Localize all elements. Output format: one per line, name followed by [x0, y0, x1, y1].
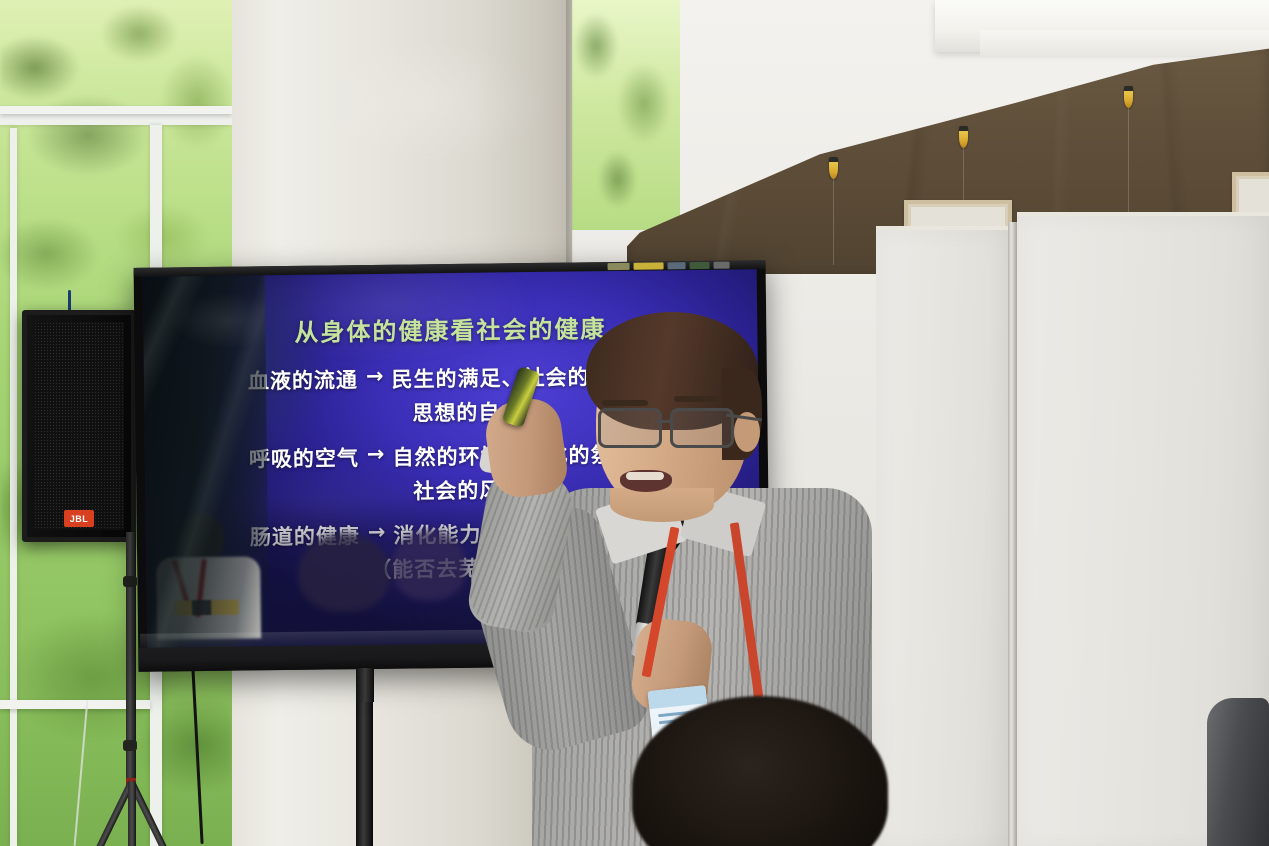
window-frame-inner — [10, 128, 17, 846]
arrow-icon: → — [367, 442, 385, 466]
photo-scene: JBL 从身体的健康看社会的健康 血液的流通 — [0, 0, 1269, 846]
banner-clip — [829, 157, 838, 179]
arrow-icon: → — [366, 364, 384, 388]
banner-clip — [1124, 86, 1133, 108]
banner-clip-thread — [833, 179, 834, 265]
presenter-mouth — [620, 470, 672, 492]
tv-sticker — [608, 263, 630, 270]
screen-glare-sheen — [143, 275, 270, 649]
tv-sticker — [714, 262, 730, 269]
tv-sticker — [668, 262, 686, 269]
tv-bezel-stickers — [608, 262, 730, 270]
presenter-teeth — [626, 472, 664, 480]
jbl-pa-speaker: JBL — [22, 310, 136, 542]
eyeglasses — [598, 408, 744, 444]
eyeglass-bridge — [656, 420, 672, 423]
tv-stand-neck — [356, 668, 374, 702]
presenter-chin — [610, 488, 714, 522]
window-sill — [0, 106, 232, 114]
tripod-adjust-knob — [123, 576, 137, 587]
eyeglass-lens-left — [598, 408, 662, 448]
presenter-eyebrow — [674, 396, 720, 402]
foliage-behind-pillar — [560, 0, 680, 230]
presenter-eyebrow — [602, 400, 648, 406]
banner-clip — [959, 126, 968, 148]
tv-sticker — [634, 262, 664, 269]
reflection-blob — [392, 530, 467, 601]
screen-left-glare — [143, 275, 270, 649]
eyeglass-lens-right — [670, 408, 734, 448]
banner-clip-thread — [1128, 108, 1129, 212]
tv-sticker — [690, 262, 710, 269]
jbl-logo-badge: JBL — [64, 510, 94, 527]
speaker-grille — [34, 322, 124, 530]
tripod-leg — [128, 782, 136, 846]
ceiling-beam-secondary — [980, 30, 1269, 56]
panel-divider-rail — [1008, 222, 1017, 846]
tripod-adjust-knob — [123, 740, 137, 751]
reflection-blob — [298, 533, 391, 612]
audience-chair — [1207, 698, 1269, 846]
window-behind-pillar — [560, 0, 680, 230]
